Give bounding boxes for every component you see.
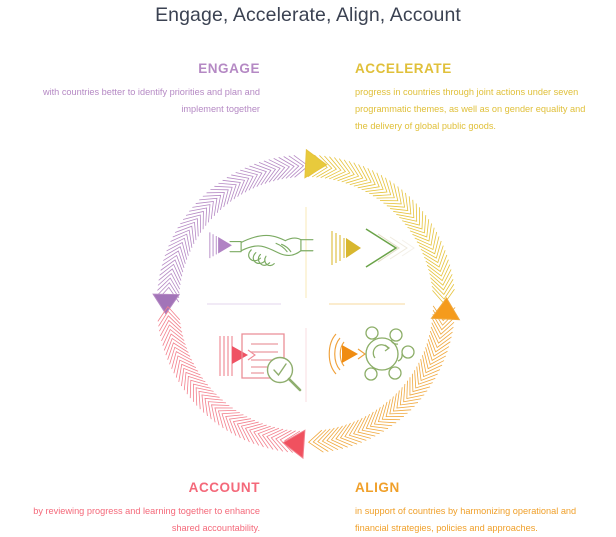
page-title: Engage, Accelerate, Align, Account [0,4,616,27]
arc-accelerate [305,150,455,305]
arc-align [308,297,461,453]
arc-engage [153,155,309,314]
quadrant-heading-accelerate: ACCELERATE [355,62,600,77]
quadrant-text-align: ALIGN in support of countries by harmoni… [355,481,600,537]
arrowhead-engage [153,294,179,314]
quadrant-heading-account: ACCOUNT [20,481,260,496]
document-magnifier-check-icon [220,334,300,390]
quadrant-body-accelerate: progress in countries through joint acti… [355,84,600,135]
quadrant-body-engage: with countries better to identify priori… [20,84,260,118]
quadrant-body-account: by reviewing progress and learning toget… [20,503,260,537]
cycle-diagram [120,130,500,480]
handshake-icon [210,232,313,265]
quadrant-text-accelerate: ACCELERATE progress in countries through… [355,62,600,135]
arrowhead-align [431,297,460,319]
quadrant-text-account: ACCOUNT by reviewing progress and learni… [20,481,260,537]
play-forward-icon [332,229,414,267]
quadrant-body-align: in support of countries by harmonizing o… [355,503,600,537]
quadrant-heading-engage: ENGAGE [20,62,260,77]
quadrant-heading-align: ALIGN [355,481,600,496]
quadrant-text-engage: ENGAGE with countries better to identify… [20,62,260,118]
network-hub-icon [329,327,414,380]
